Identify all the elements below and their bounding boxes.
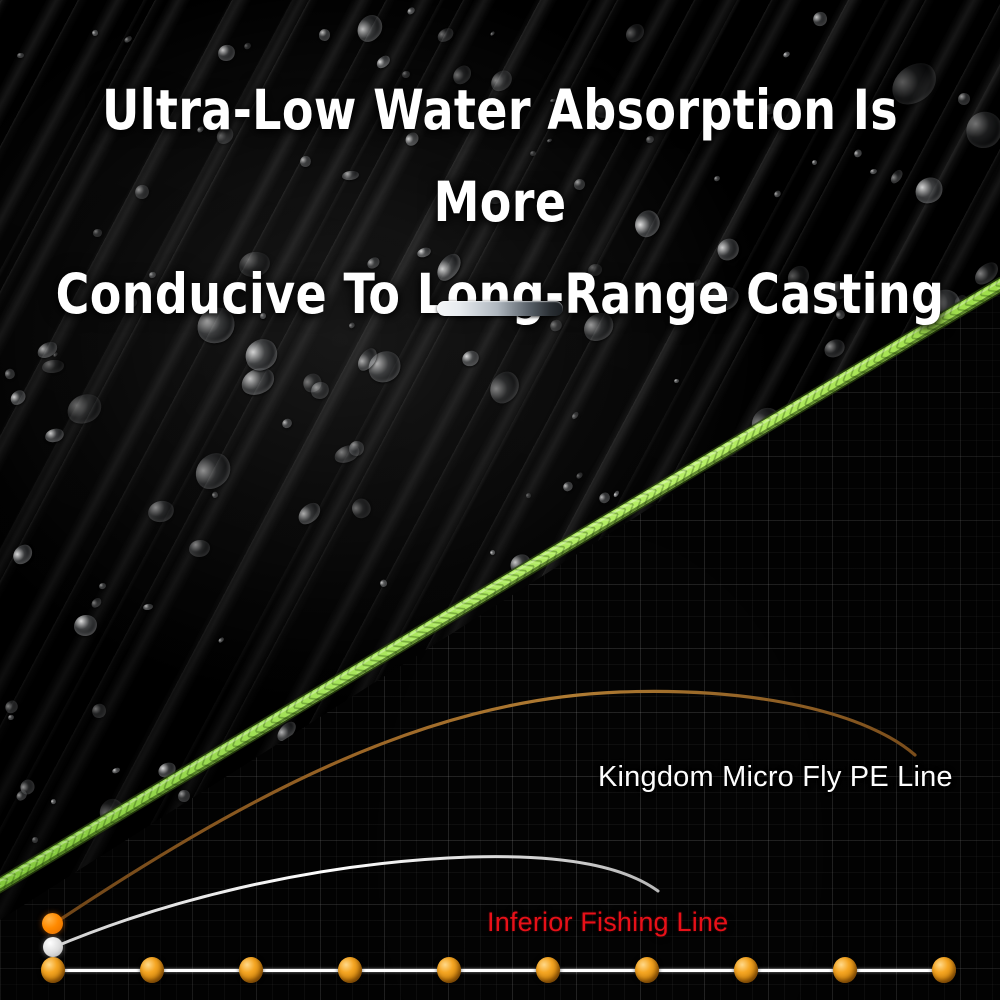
inferior-line-label: Inferior Fishing Line bbox=[487, 907, 728, 938]
axis-tick-marker bbox=[635, 957, 659, 983]
axis-tick-marker bbox=[437, 957, 461, 983]
axis-tick-marker bbox=[734, 957, 758, 983]
kingdom-curve bbox=[52, 691, 915, 925]
gradient-pill-decoration bbox=[437, 301, 563, 316]
axis-tick-marker bbox=[140, 957, 164, 983]
axis-tick-marker bbox=[41, 957, 65, 983]
axis-tick-marker bbox=[338, 957, 362, 983]
headline: Ultra-Low Water Absorption Is More Condu… bbox=[0, 64, 1000, 340]
baseline-axis bbox=[53, 969, 946, 972]
inferior-origin-marker bbox=[43, 937, 63, 957]
axis-tick-marker bbox=[833, 957, 857, 983]
axis-tick-marker bbox=[932, 957, 956, 983]
axis-tick-marker bbox=[536, 957, 560, 983]
headline-line-2: Conducive To Long-Range Casting bbox=[35, 248, 965, 340]
axis-tick-marker bbox=[239, 957, 263, 983]
kingdom-origin-marker bbox=[42, 913, 63, 934]
headline-line-1: Ultra-Low Water Absorption Is More bbox=[35, 64, 965, 248]
kingdom-line-label: Kingdom Micro Fly PE Line bbox=[598, 761, 953, 794]
promo-banner: Kingdom Micro Fly PE Line Inferior Fishi… bbox=[0, 0, 1000, 1000]
